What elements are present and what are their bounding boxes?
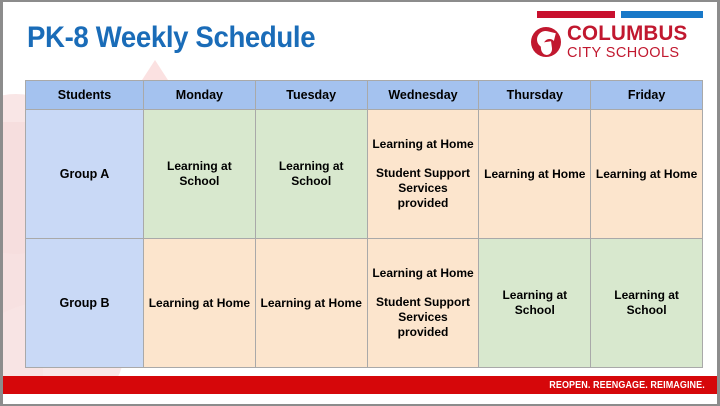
cell-group-b-friday: Learning at School (591, 239, 703, 368)
logo-subtitle: CITY SCHOOLS (567, 46, 690, 61)
cell-group-a-friday: Learning at Home (591, 110, 703, 239)
cell-primary-text: Learning at Home (484, 167, 585, 181)
cell-primary-text: Learning at Home (372, 266, 473, 280)
table-row: Group B Learning at Home Learning at Hom… (26, 239, 703, 368)
column-header-thursday: Thursday (479, 81, 591, 110)
brand-logo: COLUMBUS CITY SCHOOLS (531, 11, 703, 61)
cell-group-a-tuesday: Learning at School (255, 110, 367, 239)
logo-bar-blue (621, 11, 703, 18)
cell-primary-text: Learning at School (167, 159, 232, 188)
cell-primary-text: Learning at School (279, 159, 344, 188)
cell-primary-text: Learning at School (502, 288, 567, 317)
cell-group-a-wednesday: Learning at Home Student Support Service… (367, 110, 479, 239)
cell-group-a-monday: Learning at School (144, 110, 256, 239)
logo-name: COLUMBUS (567, 23, 687, 44)
logo-accent-bars (537, 11, 703, 18)
column-header-friday: Friday (591, 81, 703, 110)
row-label-group-a: Group A (26, 110, 144, 239)
column-header-tuesday: Tuesday (255, 81, 367, 110)
cell-primary-text: Learning at Home (596, 167, 697, 181)
cell-primary-text: Learning at School (614, 288, 679, 317)
cell-primary-text: Learning at Home (261, 296, 362, 310)
logo-bar-red (537, 11, 615, 18)
cell-group-b-tuesday: Learning at Home (255, 239, 367, 368)
page-title: PK-8 Weekly Schedule (27, 21, 315, 55)
cell-primary-text: Learning at Home (149, 296, 250, 310)
logo-wordmark: COLUMBUS CITY SCHOOLS (567, 23, 690, 61)
cell-note-text: Student Support Services provided (372, 295, 475, 340)
column-header-wednesday: Wednesday (367, 81, 479, 110)
column-header-monday: Monday (144, 81, 256, 110)
cell-group-b-monday: Learning at Home (144, 239, 256, 368)
footer-tagline: REOPEN. REENGAGE. REIMAGINE. (549, 380, 705, 391)
cell-group-b-thursday: Learning at School (479, 239, 591, 368)
cell-group-a-thursday: Learning at Home (479, 110, 591, 239)
weekly-schedule-table: Students Monday Tuesday Wednesday Thursd… (25, 80, 703, 368)
column-header-students: Students (26, 81, 144, 110)
cell-note-text: Student Support Services provided (372, 166, 475, 211)
table-header-row: Students Monday Tuesday Wednesday Thursd… (26, 81, 703, 110)
cell-group-b-wednesday: Learning at Home Student Support Service… (367, 239, 479, 368)
slide-canvas: PK-8 Weekly Schedule COLUMBUS CITY SCHOO… (0, 0, 720, 406)
row-label-group-b: Group B (26, 239, 144, 368)
table-row: Group A Learning at School Learning at S… (26, 110, 703, 239)
footer-bottom-strip (3, 394, 720, 404)
logo-body: COLUMBUS CITY SCHOOLS (531, 23, 703, 61)
columbus-emblem-icon (531, 27, 561, 57)
cell-primary-text: Learning at Home (372, 137, 473, 151)
footer-bar: REOPEN. REENGAGE. REIMAGINE. (3, 376, 720, 394)
